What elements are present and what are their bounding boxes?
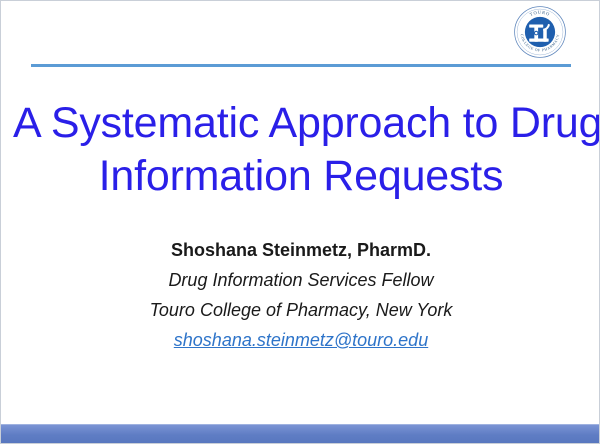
presenter-role: Drug Information Services Fellow	[13, 265, 589, 295]
slide-title-line-2: Information Requests	[13, 150, 589, 203]
presenter-email-row: shoshana.steinmetz@touro.edu	[13, 325, 589, 355]
slide-title: A Systematic Approach to Drug Informatio…	[13, 97, 589, 203]
header-divider-rule	[31, 64, 571, 67]
footer-accent-bar	[1, 424, 599, 443]
presenter-block: Shoshana Steinmetz, PharmD. Drug Informa…	[13, 235, 589, 355]
presenter-affiliation: Touro College of Pharmacy, New York	[13, 295, 589, 325]
slide-title-line-1: A Systematic Approach to Drug	[13, 97, 589, 150]
touro-college-pharmacy-logo: TOURO COLLEGE OF PHARMACY	[513, 5, 567, 59]
presenter-email-link[interactable]: shoshana.steinmetz@touro.edu	[174, 325, 428, 355]
presentation-slide: TOURO COLLEGE OF PHARMACY A Systematic A…	[0, 0, 600, 444]
presenter-name: Shoshana Steinmetz, PharmD.	[13, 235, 589, 265]
